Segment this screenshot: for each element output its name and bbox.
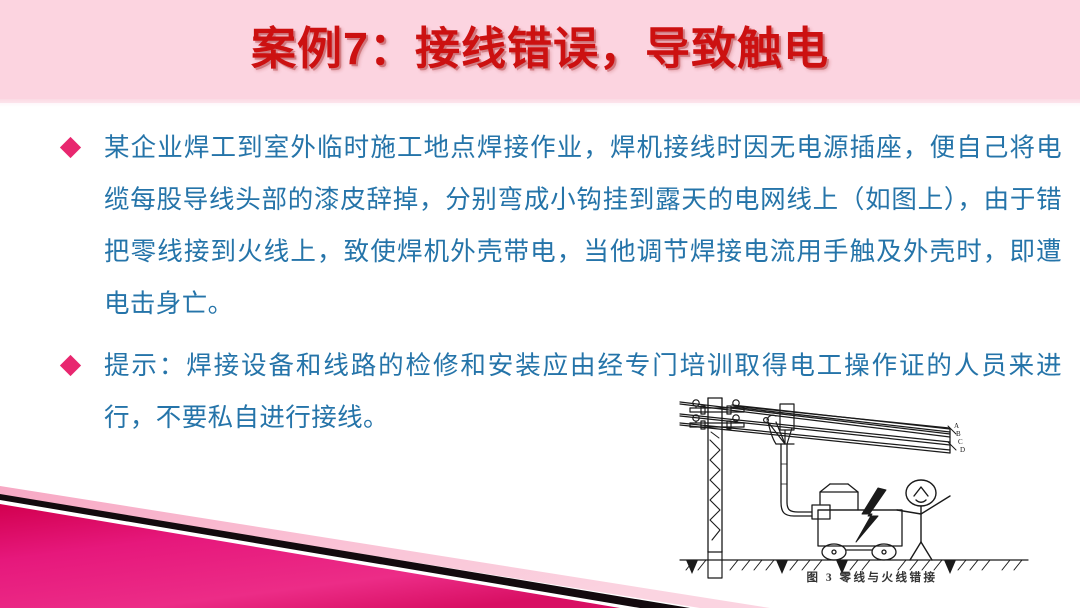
bullet-item-1: 某企业焊工到室外临时施工地点焊接作业，焊机接线时因无电源插座，便自己将电缆每股导… (0, 122, 1080, 330)
diamond-bullet-icon (60, 355, 81, 376)
diamond-bullet-icon (60, 137, 81, 158)
worker-figure (897, 480, 950, 560)
header-band-fade (0, 99, 1080, 107)
wedge-main-magenta (0, 504, 620, 608)
page-title: 案例7：接线错误，导致触电 (0, 17, 1080, 81)
welding-machine-cart (812, 484, 902, 560)
wire-label-c: C (958, 438, 963, 446)
wire-label-d: D (960, 446, 965, 454)
wire-label-b: B (956, 430, 961, 438)
cable (781, 444, 812, 516)
slide-canvas: 案例7：接线错误，导致触电 某企业焊工到室外临时施工地点焊接作业，焊机接线时因无… (0, 0, 1080, 608)
utility-pole (708, 398, 722, 552)
wedge-stripe-light-pink (0, 486, 770, 608)
figure-caption: 图 3 零线与火线错接 (672, 569, 1072, 585)
wire-label-a: A (954, 422, 959, 430)
electric-spark (856, 488, 886, 542)
wedge-stripe-black (0, 494, 690, 608)
wiring-accident-illustration: A B C D (672, 392, 1072, 598)
bullet-text-1: 某企业焊工到室外临时施工地点焊接作业，焊机接线时因无电源插座，便自己将电缆每股导… (104, 122, 1062, 330)
